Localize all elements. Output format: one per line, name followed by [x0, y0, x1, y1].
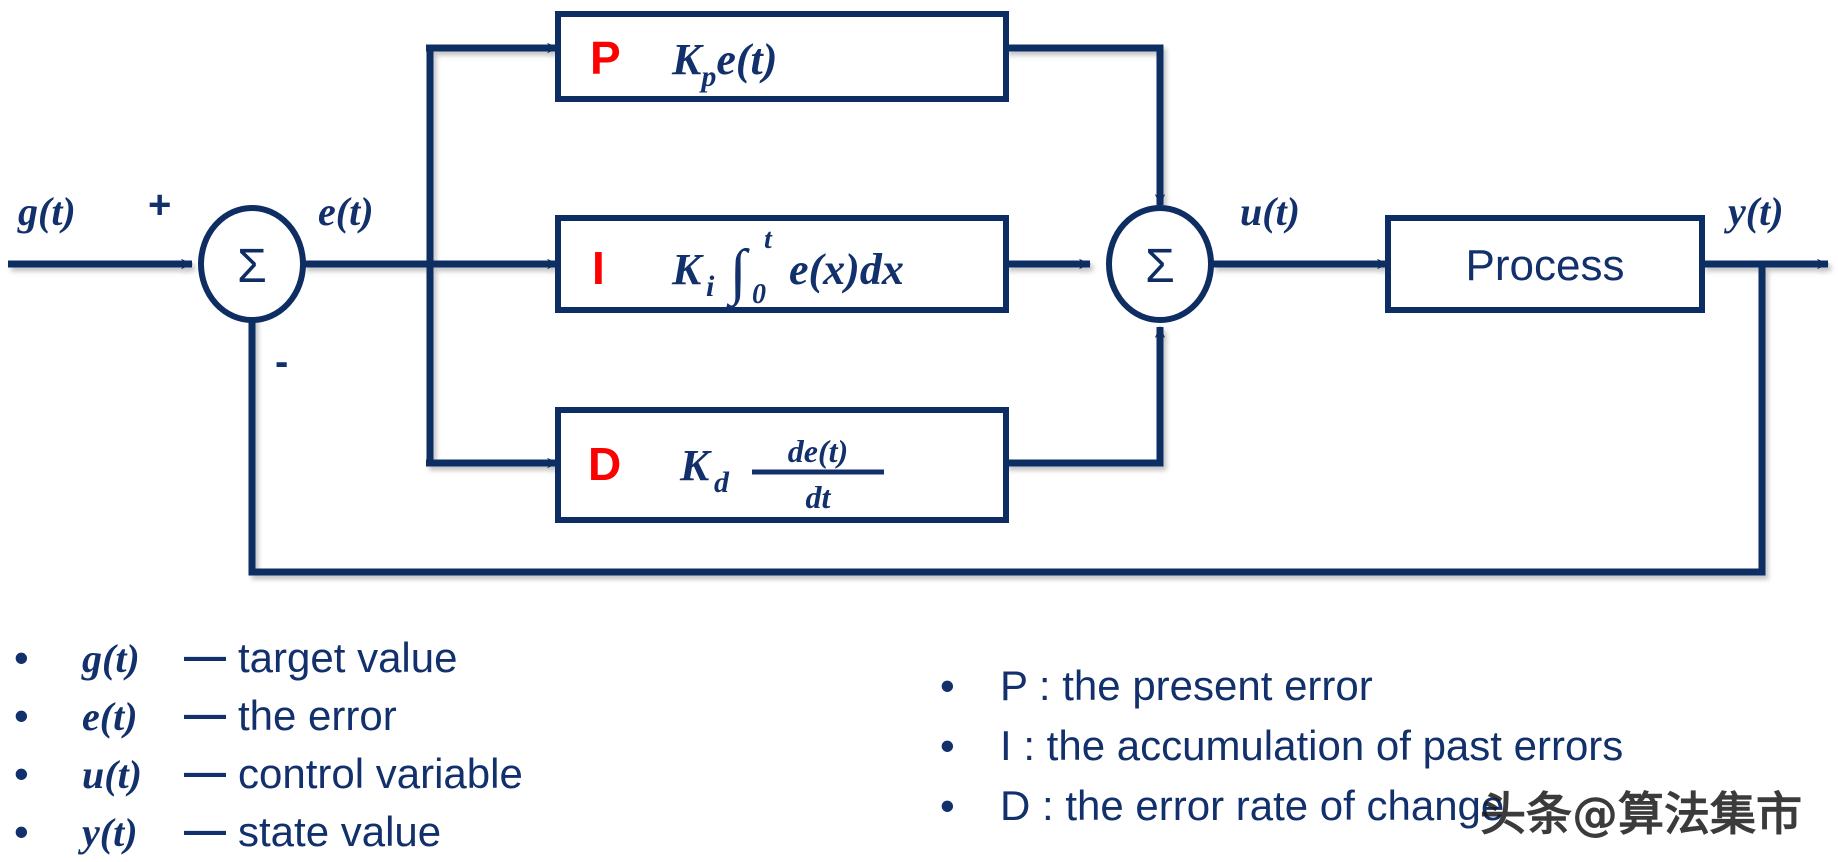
legend-right-text-2: D : the error rate of change: [1000, 782, 1504, 829]
legend-left-desc-1: the error: [238, 692, 397, 739]
i-block-tag: I: [592, 242, 605, 294]
bullet-marker: •: [14, 808, 29, 855]
summing-junction-right: Σ: [1109, 208, 1211, 320]
bullet-marker: •: [940, 662, 955, 709]
watermark-text: 头条@算法集市: [1480, 787, 1802, 841]
p-block-rect[interactable]: [558, 14, 1006, 99]
sign-minus: -: [275, 340, 288, 384]
p-formula-sub: p: [698, 60, 716, 93]
sum-right-symbol: Σ: [1145, 240, 1175, 293]
i-formula-rest: e(x)dx: [789, 245, 904, 294]
block-integral[interactable]: I K i ∫ t 0 e(x)dx: [558, 218, 1006, 310]
bullet-marker: •: [14, 692, 29, 739]
sign-plus: +: [148, 183, 171, 227]
legend-left-desc-0: target value: [238, 634, 457, 681]
d-block-rect[interactable]: [558, 410, 1006, 520]
i-integral-lower-limit: 0: [752, 279, 766, 310]
signal-label-input: g(t): [17, 189, 76, 234]
legend-left-dash-0: —: [184, 632, 226, 679]
list-item: • D : the error rate of change: [940, 782, 1504, 829]
legend-left-symbol-2: u(t): [82, 752, 142, 797]
i-formula-sub: i: [706, 270, 715, 303]
list-item: • P : the present error: [940, 662, 1373, 709]
legend-left-dash-1: —: [184, 690, 226, 737]
p-block-tag: P: [590, 32, 621, 84]
d-fraction-numerator: de(t): [788, 433, 848, 469]
legend-left-dash-2: —: [184, 748, 226, 795]
list-item: • u(t) — control variable: [14, 748, 523, 797]
i-formula-k: K: [671, 245, 704, 294]
d-formula-sub: d: [714, 466, 730, 499]
d-block-tag: D: [588, 438, 621, 490]
process-block-label: Process: [1466, 241, 1625, 290]
sum-left-symbol: Σ: [237, 240, 267, 293]
list-item: • I : the accumulation of past errors: [940, 722, 1623, 769]
i-block-rect[interactable]: [558, 218, 1006, 310]
p-formula-k: K: [671, 35, 704, 84]
bullet-marker: •: [940, 782, 955, 829]
legend-right-text-0: P : the present error: [1000, 662, 1373, 709]
wire-d-output: [1005, 327, 1160, 463]
bullet-marker: •: [940, 722, 955, 769]
legend-left-desc-2: control variable: [238, 750, 523, 797]
diagram-canvas: Σ Σ P Kpe(t) I K i ∫ t 0 e(x)dx: [0, 0, 1838, 862]
legend-left-symbol-3: y(t): [78, 810, 138, 855]
legend-left-dash-3: —: [184, 806, 226, 853]
legend-left-desc-3: state value: [238, 808, 441, 855]
bullet-marker: •: [14, 750, 29, 797]
legend-left-symbol-0: g(t): [81, 636, 140, 681]
p-formula-rest: e(t): [716, 35, 777, 84]
bullet-marker: •: [14, 634, 29, 681]
list-item: • g(t) — target value: [14, 632, 457, 681]
i-integral-upper-limit: t: [764, 224, 773, 255]
d-formula-k: K: [679, 441, 712, 490]
block-proportional[interactable]: P Kpe(t): [558, 14, 1006, 99]
signal-label-output: y(t): [1724, 189, 1784, 234]
signal-label-control: u(t): [1240, 189, 1300, 234]
pid-block-diagram-page: Σ Σ P Kpe(t) I K i ∫ t 0 e(x)dx: [0, 0, 1838, 862]
legend-left-symbol-1: e(t): [82, 694, 138, 739]
d-fraction-denominator: dt: [806, 479, 832, 515]
block-derivative[interactable]: D K d de(t) dt: [558, 410, 1006, 520]
legend-right-text-1: I : the accumulation of past errors: [1000, 722, 1623, 769]
summing-junction-left: Σ: [201, 208, 303, 320]
list-item: • e(t) — the error: [14, 690, 397, 739]
legend-left: • g(t) — target value • e(t) — the error…: [14, 632, 523, 855]
block-process[interactable]: Process: [1388, 218, 1702, 310]
wire-p-output: [1005, 48, 1160, 205]
signal-label-error: e(t): [318, 189, 374, 234]
list-item: • y(t) — state value: [14, 806, 441, 855]
